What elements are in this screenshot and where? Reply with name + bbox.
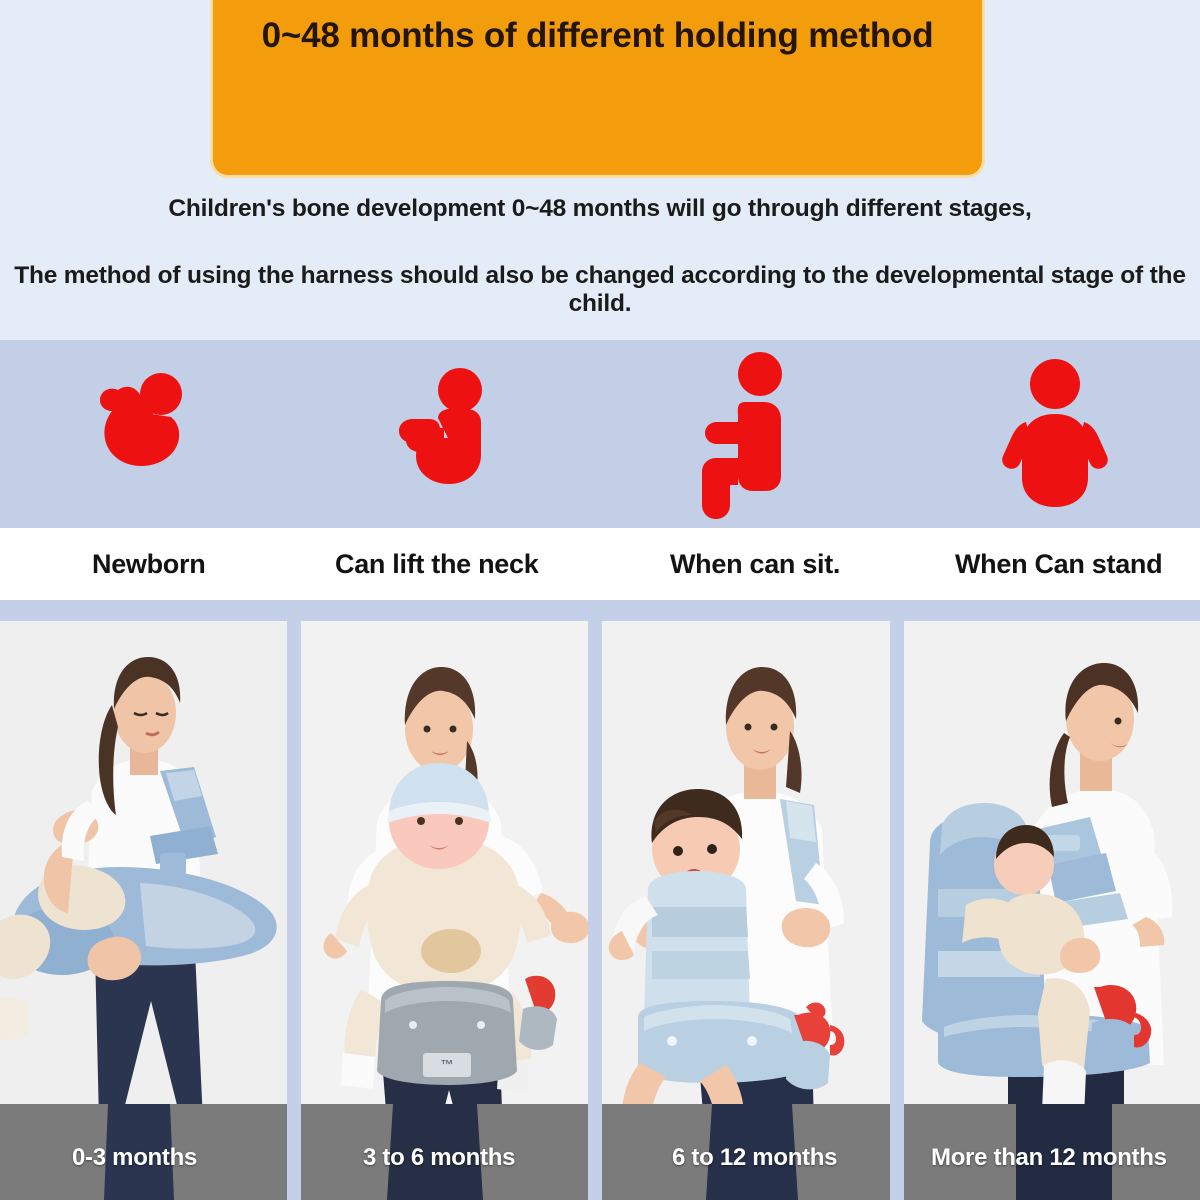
photo-caption-12-plus-months: More than 12 months [904,1144,1200,1172]
stage-icon-cell-stand [905,340,1200,528]
baby-standing-icon [905,340,1200,528]
newborn-lying-icon [0,340,300,528]
intro-section: 0~48 months of different holding method … [0,0,1200,340]
photo-caption-3-6-months: 3 to 6 months [301,1144,588,1172]
photo-cradle-hold [0,621,287,1200]
stage-icon-cell-newborn [0,340,300,528]
photo-front-carry [602,621,890,1200]
stage-icon-cell-sit [605,340,905,528]
photo-strip: 0-3 months [0,600,1200,1200]
intro-line-2: The method of using the harness should a… [0,262,1200,318]
stage-label-sit: When can sit. [605,528,905,600]
stage-label-stand: When Can stand [905,528,1200,600]
intro-line-1: Children's bone development 0~48 months … [0,195,1200,223]
photo-caption-6-12-months: 6 to 12 months [602,1144,890,1172]
photo-back-carry [904,621,1200,1200]
baby-lifting-neck-icon [300,340,605,528]
stage-icon-band [0,340,1200,528]
photo-hip-seat-hold: ™ [301,621,588,1200]
page-title: 0~48 months of different holding method [213,16,982,56]
photo-panel-12-plus-months: More than 12 months [904,621,1200,1200]
photo-panel-6-12-months: 6 to 12 months [602,621,890,1200]
photo-panel-0-3-months: 0-3 months [0,621,287,1200]
baby-sitting-icon [605,340,905,528]
infographic-page: 0~48 months of different holding method … [0,0,1200,1200]
stage-label-newborn: Newborn [0,528,300,600]
title-banner: 0~48 months of different holding method [210,0,985,178]
photo-panel-3-6-months: ™ 3 to 6 months [301,621,588,1200]
svg-text:™: ™ [441,1057,454,1072]
stage-label-band: Newborn Can lift the neck When can sit. … [0,528,1200,600]
stage-label-lift-neck: Can lift the neck [300,528,605,600]
stage-icon-cell-lift-neck [300,340,605,528]
photo-caption-0-3-months: 0-3 months [0,1144,287,1172]
